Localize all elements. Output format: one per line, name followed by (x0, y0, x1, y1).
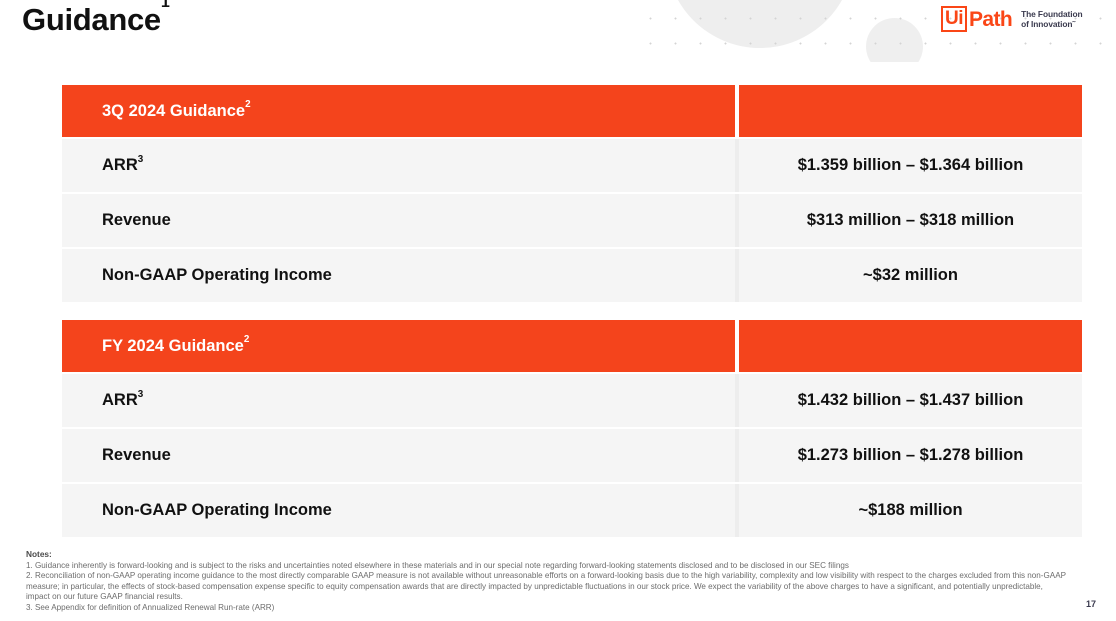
table-header-value-cell (739, 85, 1082, 137)
logo-path-wordmark: Path (969, 9, 1012, 30)
table-header-footnote-marker: 2 (245, 99, 251, 110)
logo-tagline-line-2: of Innovation˜ (1021, 19, 1082, 29)
footnote-1: 1. Guidance inherently is forward-lookin… (26, 561, 1066, 572)
table-row: Revenue $1.273 billion – $1.278 billion (62, 427, 1082, 482)
row-label-text: Non-GAAP Operating Income (102, 501, 332, 520)
footnotes-title: Notes: (26, 549, 1066, 560)
row-label: ARR3 (62, 374, 735, 427)
table-row: Revenue $313 million – $318 million (62, 192, 1082, 247)
table-header-row: 3Q 2024 Guidance2 (62, 85, 1082, 137)
table-header-value-cell (739, 320, 1082, 372)
table-header-label: FY 2024 Guidance2 (62, 320, 735, 372)
logo-tagline: The Foundation of Innovation˜ (1021, 9, 1082, 29)
uipath-logo-mark: Ui Path (941, 6, 1012, 32)
guidance-table-fy-2024: FY 2024 Guidance2 ARR3 $1.432 billion – … (62, 320, 1082, 537)
row-label-text: ARR (102, 156, 138, 175)
page-title-footnote-marker: 1 (161, 0, 170, 11)
row-value: $1.359 billion – $1.364 billion (739, 139, 1082, 192)
table-header-row: FY 2024 Guidance2 (62, 320, 1082, 372)
logo-tagline-line-1: The Foundation (1021, 9, 1082, 19)
table-header-label: 3Q 2024 Guidance2 (62, 85, 735, 137)
table-row: ARR3 $1.432 billion – $1.437 billion (62, 372, 1082, 427)
row-label: Non-GAAP Operating Income (62, 249, 735, 302)
row-label-text: Revenue (102, 211, 171, 230)
row-value: $1.432 billion – $1.437 billion (739, 374, 1082, 427)
page-title: Guidance1 (22, 2, 170, 38)
row-label-text: Revenue (102, 446, 171, 465)
table-row: ARR3 $1.359 billion – $1.364 billion (62, 137, 1082, 192)
row-label-text: Non-GAAP Operating Income (102, 266, 332, 285)
row-label: Non-GAAP Operating Income (62, 484, 735, 537)
page-title-text: Guidance (22, 2, 161, 37)
row-label-footnote-marker: 3 (138, 389, 144, 400)
table-header-footnote-marker: 2 (244, 334, 250, 345)
row-label: Revenue (62, 429, 735, 482)
guidance-table-3q-2024: 3Q 2024 Guidance2 ARR3 $1.359 billion – … (62, 85, 1082, 302)
row-label-footnote-marker: 3 (138, 154, 144, 165)
row-value: $1.273 billion – $1.278 billion (739, 429, 1082, 482)
row-label: Revenue (62, 194, 735, 247)
table-header-title: 3Q 2024 Guidance (102, 102, 245, 121)
table-row: Non-GAAP Operating Income ~$32 million (62, 247, 1082, 302)
row-label: ARR3 (62, 139, 735, 192)
row-value: $313 million – $318 million (739, 194, 1082, 247)
footnote-3: 3. See Appendix for definition of Annual… (26, 603, 1066, 614)
row-value: ~$188 million (739, 484, 1082, 537)
logo-ui-badge-icon: Ui (941, 6, 967, 32)
footnote-2: 2. Reconciliation of non-GAAP operating … (26, 571, 1066, 603)
page-number: 17 (1086, 599, 1096, 609)
slide-header: Guidance1 Ui Path The Foundation of Inno… (0, 0, 1116, 62)
footnotes: Notes: 1. Guidance inherently is forward… (26, 549, 1066, 614)
row-label-text: ARR (102, 391, 138, 410)
table-row: Non-GAAP Operating Income ~$188 million (62, 482, 1082, 537)
table-header-title: FY 2024 Guidance (102, 337, 244, 356)
row-value: ~$32 million (739, 249, 1082, 302)
uipath-logo: Ui Path The Foundation of Innovation˜ (941, 6, 1083, 32)
